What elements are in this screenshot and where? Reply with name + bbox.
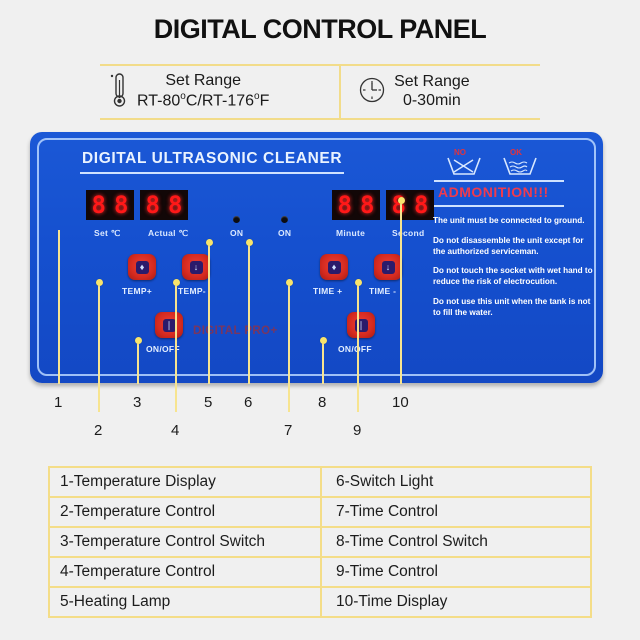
callout-dot	[320, 337, 327, 344]
callout-leader-line	[98, 282, 100, 412]
spec-bar: Set Range RT-80oC/RT-176oF Set Range 0-3…	[100, 64, 540, 120]
clock-icon	[357, 75, 387, 110]
legend-cell: 8-Time Control Switch	[320, 528, 590, 556]
legend-cell: 9-Time Control	[320, 558, 590, 586]
legend-cell: 6-Switch Light	[320, 468, 590, 496]
callout-number: 9	[353, 422, 361, 439]
callout-leader-line	[288, 282, 290, 412]
callout-number: 8	[318, 394, 326, 411]
table-row: 2-Temperature Control 7-Time Control	[50, 496, 590, 526]
callout-number: 1	[54, 394, 62, 411]
legend-cell: 3-Temperature Control Switch	[50, 528, 320, 556]
callout-number: 4	[171, 422, 179, 439]
spec-time-range: Set Range 0-30min	[339, 66, 540, 118]
callout-dot	[246, 239, 253, 246]
callout-dot	[206, 239, 213, 246]
callout-dot	[96, 279, 103, 286]
callout-dot	[355, 279, 362, 286]
callout-dot	[173, 279, 180, 286]
callout-number: 10	[392, 394, 409, 411]
spec-temperature-range: Set Range RT-80oC/RT-176oF	[100, 66, 339, 118]
callout-leader-line	[357, 282, 359, 412]
legend-cell: 2-Temperature Control	[50, 498, 320, 526]
callout-leader-line	[400, 200, 402, 384]
legend-cell: 7-Time Control	[320, 498, 590, 526]
legend-cell: 1-Temperature Display	[50, 468, 320, 496]
legend-cell: 5-Heating Lamp	[50, 588, 320, 616]
spec-time-line1: Set Range	[394, 73, 470, 92]
callout-leader-line	[137, 340, 139, 384]
callout-leader-line	[208, 242, 210, 384]
callout-leader-line	[175, 282, 177, 412]
legend-cell: 10-Time Display	[320, 588, 590, 616]
callout-dot	[286, 279, 293, 286]
legend-table: 1-Temperature Display 6-Switch Light 2-T…	[48, 466, 592, 618]
thermometer-icon	[108, 70, 130, 115]
spec-temp-line2: RT-80oC/RT-176oF	[137, 91, 269, 111]
table-row: 4-Temperature Control 9-Time Control	[50, 556, 590, 586]
callout-number: 7	[284, 422, 292, 439]
callout-leader-line	[58, 230, 60, 384]
page-title: DIGITAL CONTROL PANEL	[0, 14, 640, 45]
callout-dot	[135, 337, 142, 344]
table-row: 1-Temperature Display 6-Switch Light	[50, 468, 590, 496]
callout-layer: 12345678910	[0, 132, 640, 437]
spec-temperature-text: Set Range RT-80oC/RT-176oF	[137, 72, 269, 111]
legend-cell: 4-Temperature Control	[50, 558, 320, 586]
callout-number: 6	[244, 394, 252, 411]
spec-time-text: Set Range 0-30min	[394, 73, 470, 111]
spec-temp-line1: Set Range	[137, 72, 269, 91]
callout-number: 5	[204, 394, 212, 411]
callout-leader-line	[248, 242, 250, 384]
table-row: 5-Heating Lamp 10-Time Display	[50, 586, 590, 616]
callout-dot	[398, 197, 405, 204]
table-row: 3-Temperature Control Switch 8-Time Cont…	[50, 526, 590, 556]
callout-leader-line	[322, 340, 324, 384]
callout-number: 3	[133, 394, 141, 411]
callout-number: 2	[94, 422, 102, 439]
spec-time-line2: 0-30min	[394, 92, 470, 111]
